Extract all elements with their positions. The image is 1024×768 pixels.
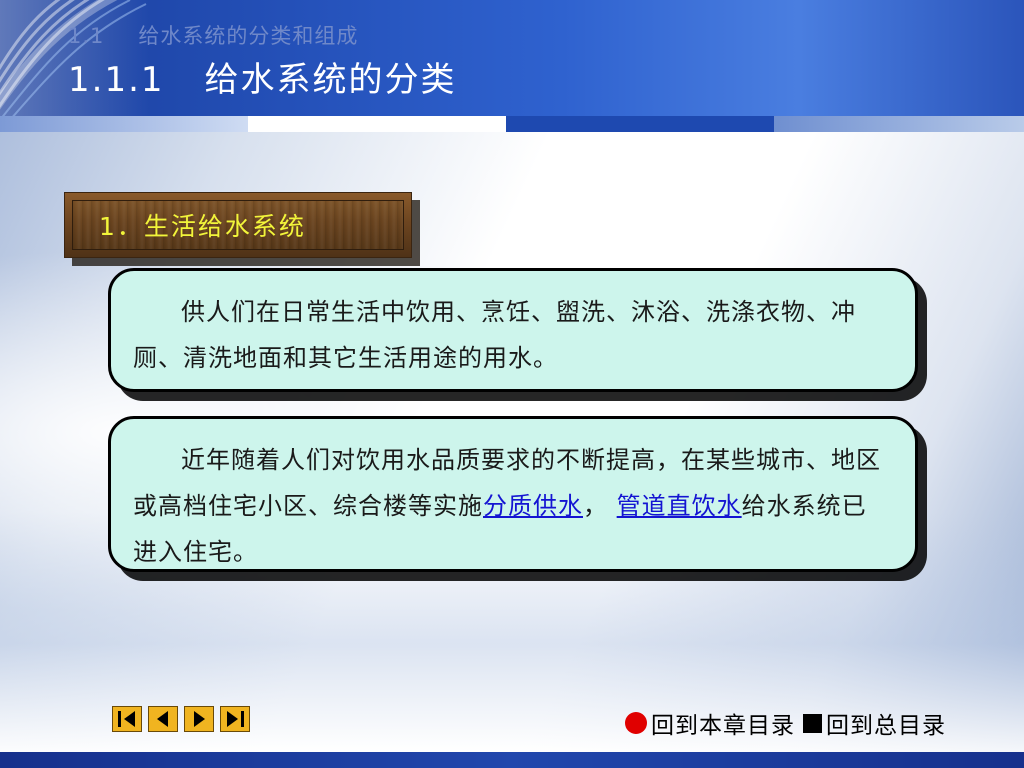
first-slide-bar-icon [118,711,121,727]
header-section-title: 给水系统的分类和组成 [138,24,358,48]
red-circle-icon [625,712,647,734]
last-slide-bar-icon [241,711,244,727]
plaque-frame: 1．生活给水系统 [64,192,412,258]
previous-slide-button[interactable] [148,706,178,732]
footer-links: 回到本章目录 回到总目录 [625,706,946,740]
first-slide-button[interactable] [112,706,142,732]
content-box-1-body: 供人们在日常生活中饮用、烹饪、盥洗、沐浴、洗涤衣物、冲厕、清洗地面和其它生活用途… [133,298,856,372]
divider-bar-blue [506,116,774,132]
slide: 1.1给水系统的分类和组成 1.1.1给水系统的分类 1．生活给水系统 供人们在… [0,0,1024,768]
divider-bar-white [248,116,506,132]
divider-bar-left [0,116,248,132]
content-box-1: 供人们在日常生活中饮用、烹饪、盥洗、沐浴、洗涤衣物、冲厕、清洗地面和其它生活用途… [108,268,918,392]
page-title: 1.1.1给水系统的分类 [68,52,457,101]
page-title-text: 给水系统的分类 [205,60,457,100]
previous-slide-arrow-icon [157,711,168,727]
header-band: 1.1给水系统的分类和组成 1.1.1给水系统的分类 [0,0,1024,116]
last-slide-arrow-icon [227,711,238,727]
slide-navigation [112,706,250,732]
link-guandao-zhiyinshui[interactable]: 管道直饮水 [617,492,742,520]
page-title-number: 1.1.1 [68,60,165,100]
plaque-inner: 1．生活给水系统 [72,200,404,250]
content-box-1-text: 供人们在日常生活中饮用、烹饪、盥洗、沐浴、洗涤衣物、冲厕、清洗地面和其它生活用途… [133,289,891,381]
next-slide-button[interactable] [184,706,214,732]
header-subtitle: 1.1给水系统的分类和组成 [68,20,358,50]
footer-band [0,752,1024,768]
content-box-2-text: 近年随着人们对饮用水品质要求的不断提高，在某些城市、地区或高档住宅小区、综合楼等… [133,437,891,575]
section-plaque: 1．生活给水系统 [64,192,412,258]
last-slide-button[interactable] [220,706,250,732]
content-box-2: 近年随着人们对饮用水品质要求的不断提高，在某些城市、地区或高档住宅小区、综合楼等… [108,416,918,572]
content-box-2-separator: ， [583,492,608,520]
plaque-label: 1．生活给水系统 [99,207,306,243]
chapter-toc-link[interactable]: 回到本章目录 [651,706,795,740]
header-section-number: 1.1 [68,24,104,48]
link-fenzhi-gongshui[interactable]: 分质供水 [483,492,583,520]
next-slide-arrow-icon [194,711,205,727]
main-toc-link[interactable]: 回到总目录 [826,706,946,740]
first-slide-arrow-icon [124,711,135,727]
divider-bar-right [774,116,1024,132]
black-square-icon [803,714,822,733]
header-divider-bars [0,116,1024,132]
